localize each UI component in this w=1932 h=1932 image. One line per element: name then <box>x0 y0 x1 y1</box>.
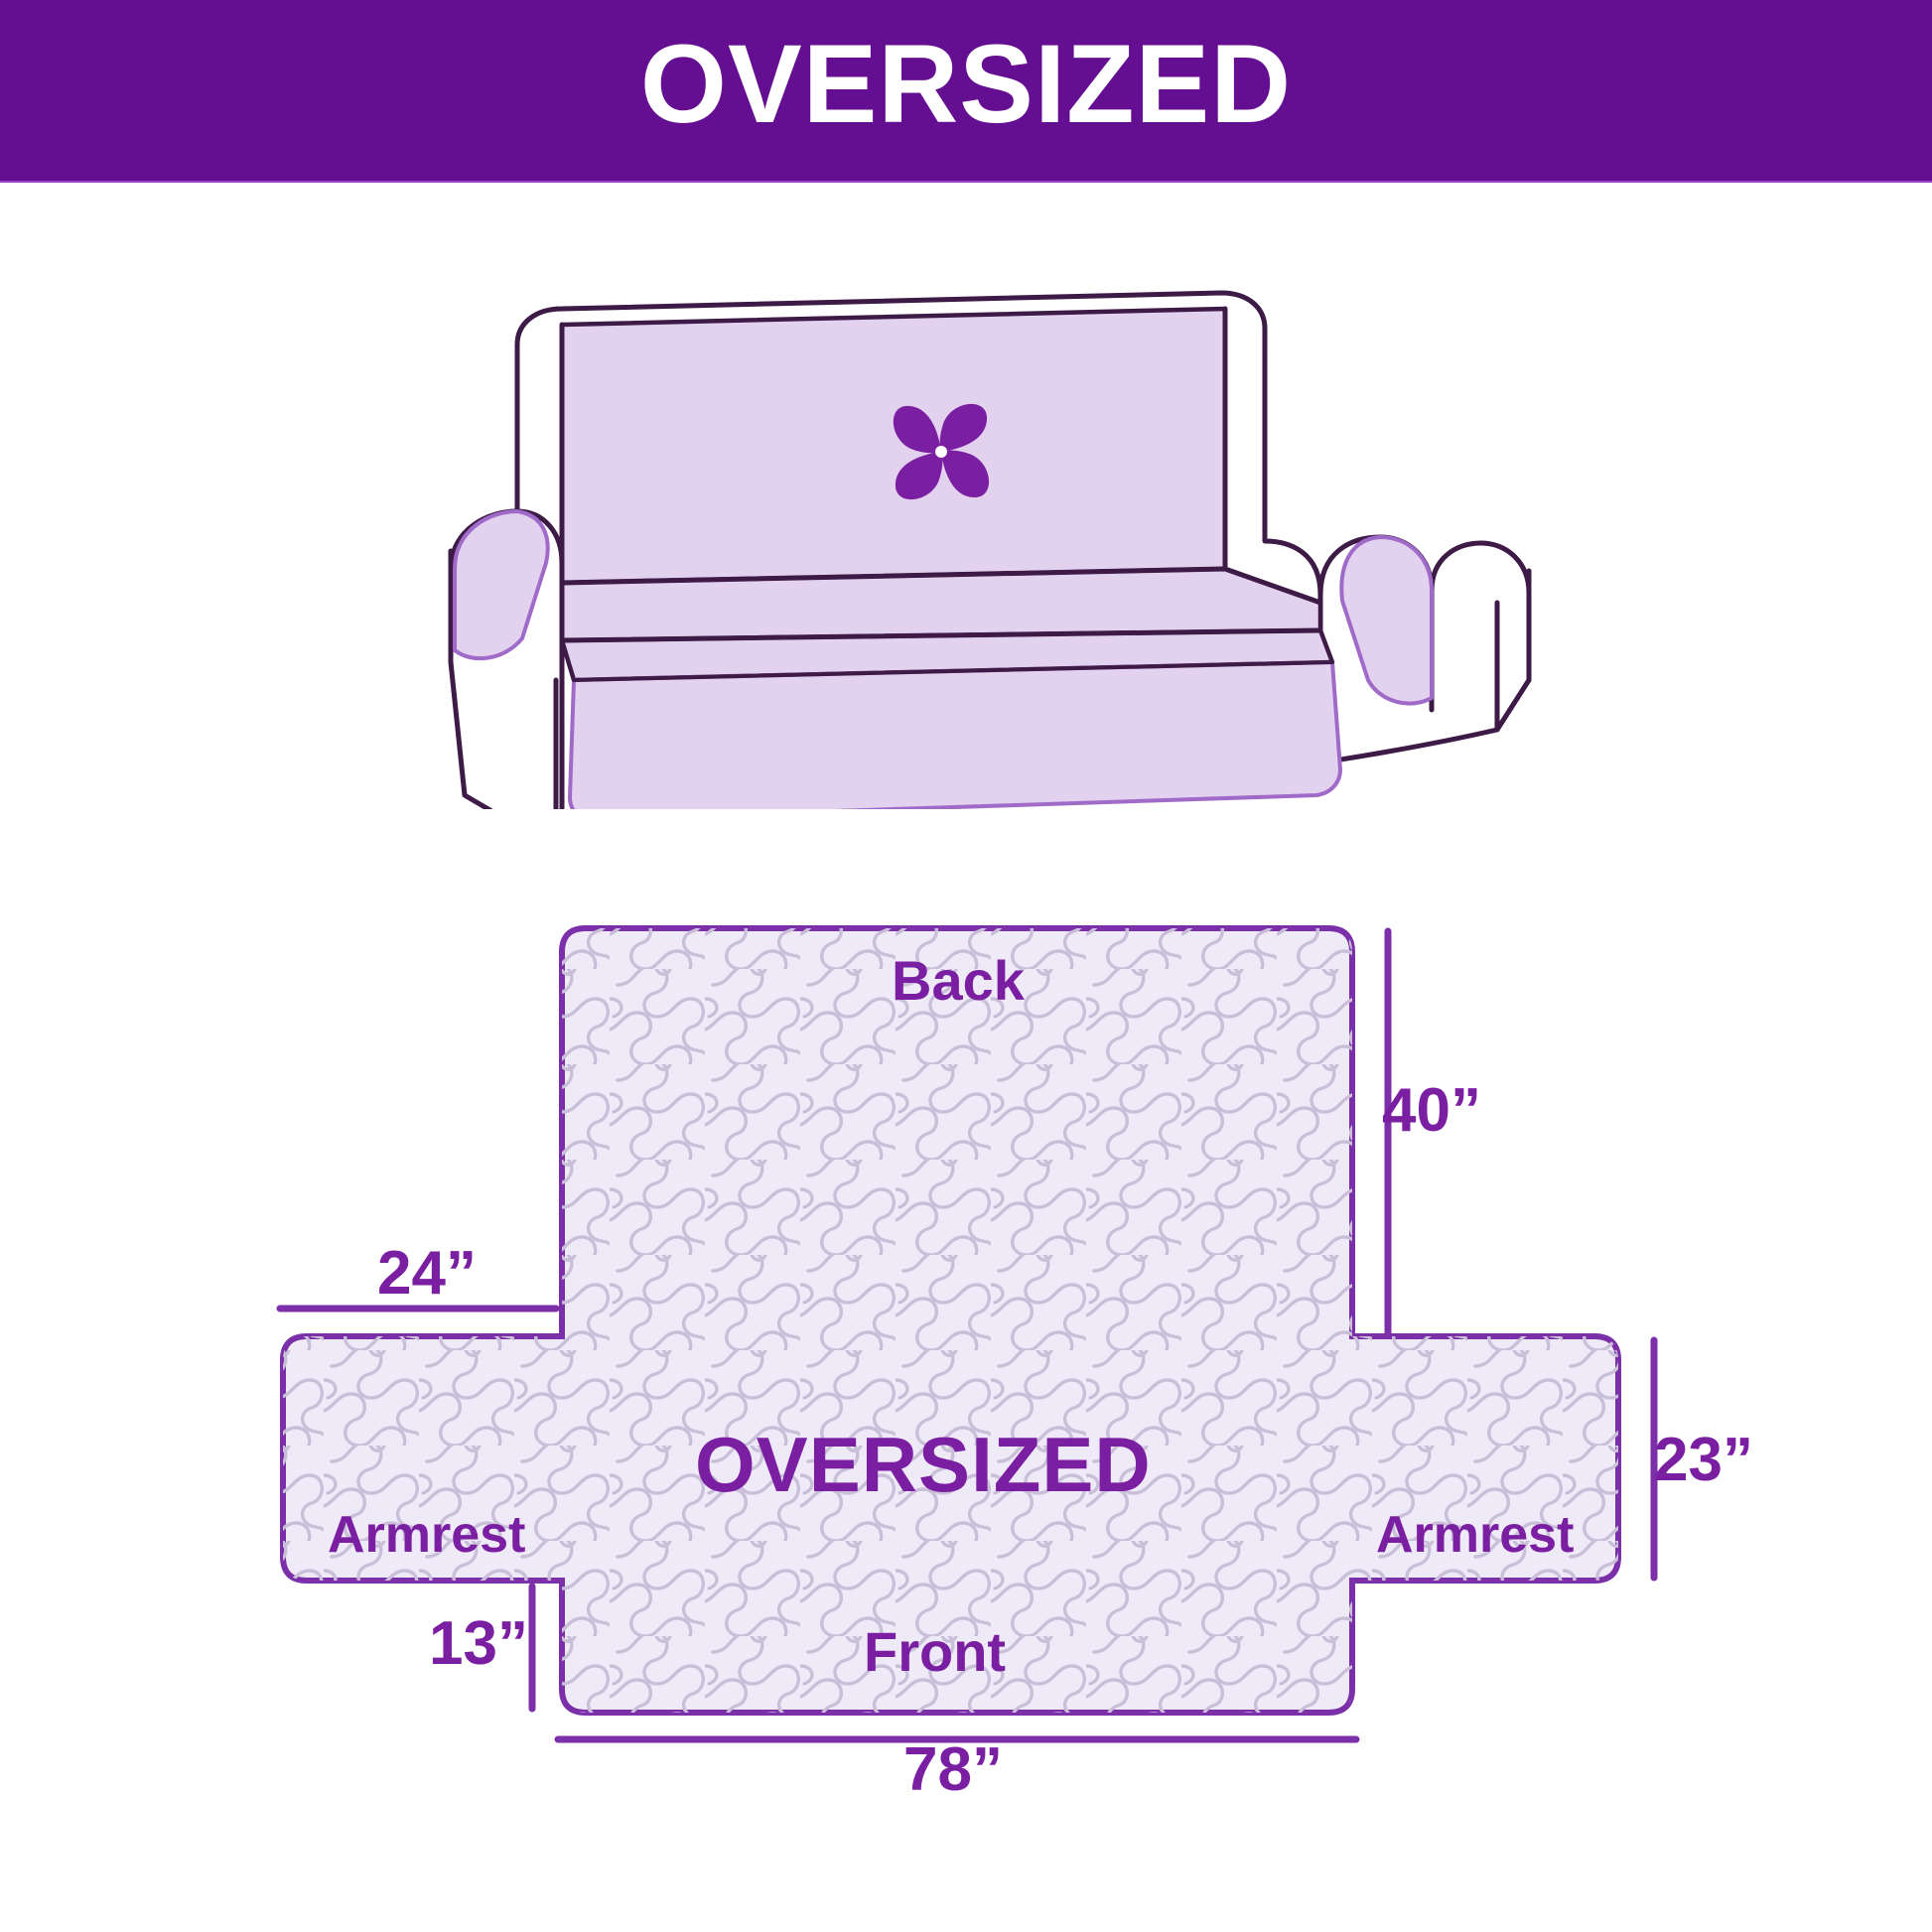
cover-dimension-diagram <box>228 874 1896 1876</box>
dimension-label-armrest-height: 23” <box>1654 1430 1753 1491</box>
panel-label-armrest-left: Armrest <box>328 1509 525 1561</box>
infographic-page: OVERSIZED .ol { fill:none; stroke:#3D1B4… <box>0 0 1932 1932</box>
sofa-illustration: .ol { fill:none; stroke:#3D1B46; stroke-… <box>387 213 1569 809</box>
page-title: OVERSIZED <box>0 0 1932 181</box>
header-banner: OVERSIZED <box>0 0 1932 181</box>
panel-label-center: OVERSIZED <box>695 1426 1152 1503</box>
panel-label-back: Back <box>892 953 1025 1009</box>
panel-label-front: Front <box>864 1624 1006 1680</box>
dimension-label-back-offset: 24” <box>377 1243 477 1305</box>
panel-label-armrest-right: Armrest <box>1376 1509 1574 1561</box>
dimension-label-front-offset: 13” <box>429 1613 528 1675</box>
dimension-label-back-height: 40” <box>1382 1080 1481 1142</box>
dimension-label-front-width: 78” <box>903 1739 1003 1801</box>
